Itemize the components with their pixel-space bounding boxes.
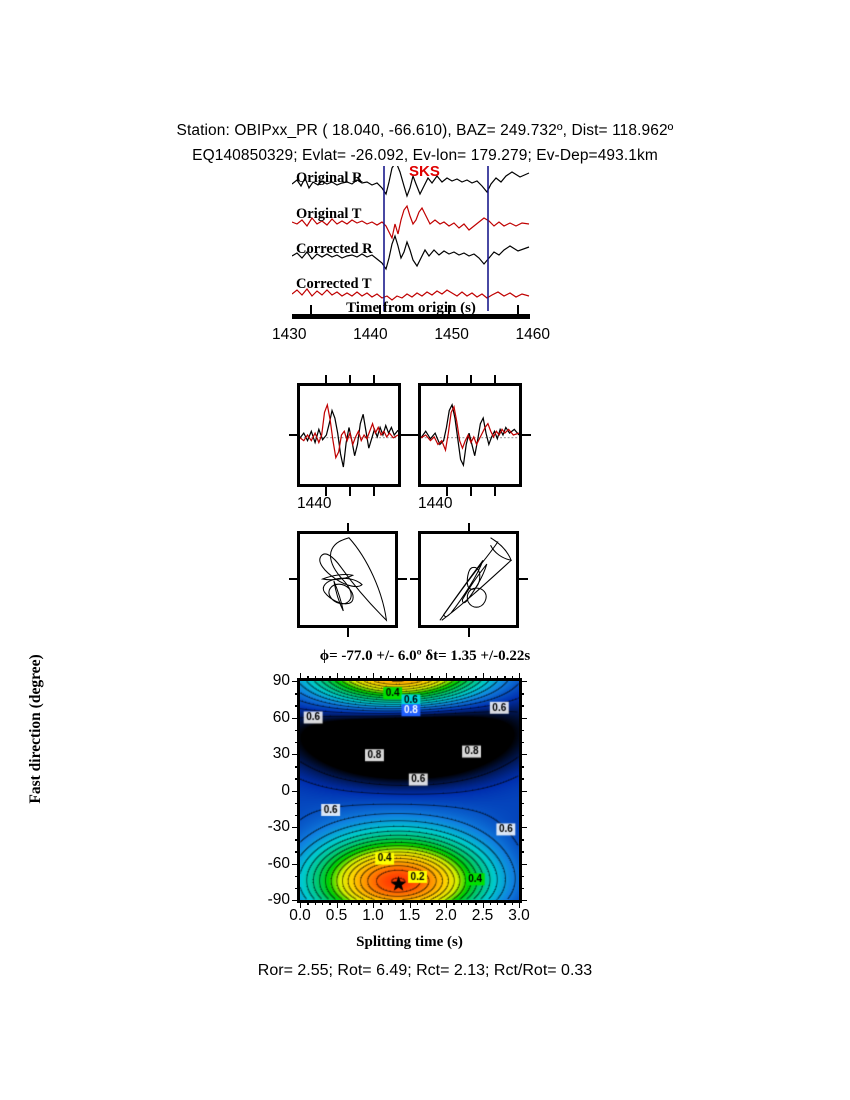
tick-mark [358, 900, 359, 905]
tick-mark [519, 791, 527, 792]
title-line-station: Station: OBIPxx_PR ( 18.040, -66.610), B… [0, 118, 850, 143]
tick-mark [315, 900, 316, 905]
x-tick-0.5: 0.5 [326, 907, 348, 925]
y-tick--60: -60 [268, 855, 290, 873]
tick-mark [519, 766, 524, 767]
tick-mark [380, 900, 381, 905]
tick-mark [497, 676, 498, 681]
tick-mark [344, 900, 345, 905]
tick-mark [504, 676, 505, 681]
tick-mark [395, 676, 396, 681]
tick-mark [417, 900, 418, 905]
tick-mark [373, 673, 374, 681]
tick-mark [490, 676, 491, 681]
tick-mark [307, 900, 308, 905]
x-tick-3.0: 3.0 [508, 907, 530, 925]
splitting-parameters-result: ϕ= -77.0 +/- 6.0º δt= 1.35 +/-0.22s [0, 648, 850, 665]
tick-mark [483, 673, 484, 681]
y-tick-30: 30 [273, 745, 290, 763]
tick-mark [475, 900, 476, 905]
tick-mark [300, 673, 301, 681]
tick-mark [351, 676, 352, 681]
tick-mark [322, 900, 323, 905]
tick-mark [395, 900, 396, 905]
time-tick-1430: 1430 [272, 326, 306, 344]
y-tick--30: -30 [268, 818, 290, 836]
tick-mark [366, 676, 367, 681]
tick-mark [431, 900, 432, 905]
tick-mark [519, 730, 524, 731]
tick-mark [497, 900, 498, 905]
tick-mark [417, 676, 418, 681]
contour-x-tick-labels: 0.00.51.01.52.02.53.0 [262, 907, 557, 929]
x-tick-0.0: 0.0 [289, 907, 311, 925]
tick-mark [453, 900, 454, 905]
tick-mark [519, 673, 520, 681]
tick-mark [519, 876, 524, 877]
tick-mark [292, 791, 300, 792]
tick-mark [351, 900, 352, 905]
tick-mark [519, 900, 527, 901]
tick-mark [366, 900, 367, 905]
trace-label-corrected-r: Corrected R [296, 241, 373, 258]
tick-mark [446, 673, 447, 681]
tick-mark [292, 900, 300, 901]
tick-mark [519, 705, 524, 706]
tick-mark [512, 676, 513, 681]
tick-mark [504, 900, 505, 905]
tick-mark [512, 900, 513, 905]
tick-mark [519, 754, 527, 755]
tick-mark [461, 676, 462, 681]
time-axis-caption: Time from origin (s) [292, 300, 530, 317]
particle-motion-corrected [418, 531, 519, 628]
quality-ratios: Ror= 2.55; Rot= 6.49; Rct= 2.13; Rct/Rot… [0, 962, 850, 980]
tick-mark [468, 676, 469, 681]
y-tick-90: 90 [273, 672, 290, 690]
tick-mark [295, 876, 300, 877]
tick-mark [295, 803, 300, 804]
tick-mark [295, 851, 300, 852]
tick-mark [380, 676, 381, 681]
tick-mark [519, 778, 524, 779]
waveform-panel-caption-left: 1440 [297, 495, 331, 513]
phase-marker-lines [384, 166, 488, 311]
tick-mark [519, 803, 524, 804]
tick-mark [402, 676, 403, 681]
tick-mark [307, 676, 308, 681]
tick-mark [410, 673, 411, 681]
contour-axis-ticks [290, 670, 540, 920]
tick-mark [439, 900, 440, 905]
figure-title: Station: OBIPxx_PR ( 18.040, -66.610), B… [0, 118, 850, 168]
time-tick-1460: 1460 [516, 326, 550, 344]
tick-mark [329, 900, 330, 905]
tick-mark [292, 864, 300, 865]
tick-mark [519, 681, 527, 682]
tick-mark [295, 888, 300, 889]
tick-mark [424, 900, 425, 905]
x-tick-2.5: 2.5 [472, 907, 494, 925]
seismogram-traces: SKS Original R Original T Corrected R Co… [292, 166, 530, 314]
contour-y-tick-labels: 9060300-30-60-90 [232, 672, 290, 908]
tick-mark [315, 676, 316, 681]
corrected-waveform-panel [418, 383, 522, 487]
y-tick-60: 60 [273, 709, 290, 727]
tick-mark [519, 693, 524, 694]
tick-mark [295, 693, 300, 694]
tick-mark [292, 754, 300, 755]
tick-mark [519, 742, 524, 743]
tick-mark [439, 676, 440, 681]
fast-slow-waveform-panel [297, 383, 401, 487]
particle-motion-original [297, 531, 398, 628]
tick-mark [295, 766, 300, 767]
tick-mark [468, 900, 469, 905]
x-tick-1.5: 1.5 [399, 907, 421, 925]
tick-mark [292, 681, 300, 682]
tick-mark [519, 864, 527, 865]
tick-mark [292, 827, 300, 828]
tick-mark [519, 718, 527, 719]
tick-mark [295, 730, 300, 731]
contour-y-axis-label: Fast direction (degree) [27, 629, 45, 829]
tick-mark [329, 676, 330, 681]
tick-mark [461, 900, 462, 905]
tick-mark [344, 676, 345, 681]
contour-x-axis-label: Splitting time (s) [297, 934, 522, 951]
tick-mark [519, 827, 527, 828]
tick-mark [388, 676, 389, 681]
tick-mark [322, 676, 323, 681]
tick-mark [295, 742, 300, 743]
tick-mark [431, 676, 432, 681]
tick-mark [519, 888, 524, 889]
sks-phase-label: SKS [409, 163, 440, 180]
time-tick-1440: 1440 [353, 326, 387, 344]
tick-mark [388, 900, 389, 905]
tick-mark [295, 705, 300, 706]
tick-mark [292, 718, 300, 719]
tick-mark [519, 839, 524, 840]
time-tick-1450: 1450 [434, 326, 468, 344]
time-axis-tick-labels: 1430 1440 1450 1460 [272, 326, 550, 344]
tick-mark [358, 676, 359, 681]
x-tick-1.0: 1.0 [362, 907, 384, 925]
y-tick-0: 0 [281, 782, 290, 800]
tick-mark [453, 676, 454, 681]
tick-mark [490, 900, 491, 905]
tick-mark [519, 851, 524, 852]
x-tick-2.0: 2.0 [435, 907, 457, 925]
tick-mark [295, 815, 300, 816]
trace-label-corrected-t: Corrected T [296, 276, 372, 293]
tick-mark [475, 676, 476, 681]
tick-mark [295, 839, 300, 840]
trace-label-original-r: Original R [296, 170, 362, 187]
tick-mark [519, 815, 524, 816]
trace-label-original-t: Original T [296, 206, 361, 223]
tick-mark [337, 673, 338, 681]
tick-mark [295, 778, 300, 779]
tick-mark [402, 900, 403, 905]
waveform-panel-caption-right: 1440 [418, 495, 452, 513]
tick-mark [424, 676, 425, 681]
